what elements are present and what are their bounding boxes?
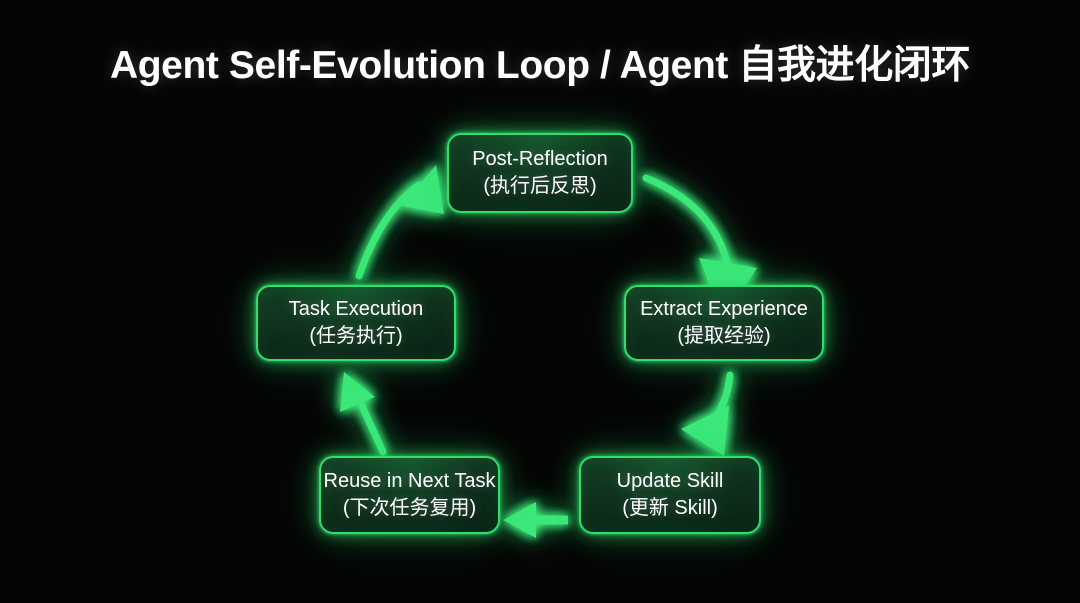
node-task-execution-label-en: Task Execution <box>289 296 424 323</box>
page-title: Agent Self-Evolution Loop / Agent 自我进化闭环 <box>0 40 1080 92</box>
node-extract-experience-label-en: Extract Experience <box>640 296 808 323</box>
diagram-canvas: Agent Self-Evolution Loop / Agent 自我进化闭环 <box>0 0 1080 603</box>
node-task-execution-label-zh: (任务执行) <box>309 323 402 350</box>
node-task-execution[interactable]: Task Execution (任务执行) <box>256 285 456 361</box>
node-extract-experience-label-zh: (提取经验) <box>677 323 770 350</box>
node-extract-experience[interactable]: Extract Experience (提取经验) <box>624 285 824 361</box>
arrow-extract-experience-to-update-skill <box>681 375 730 456</box>
arrow-task-execution-to-post-reflection <box>359 165 444 276</box>
node-update-skill[interactable]: Update Skill (更新 Skill) <box>579 456 761 534</box>
node-reuse-next-task[interactable]: Reuse in Next Task (下次任务复用) <box>319 456 500 534</box>
node-reuse-next-task-label-en: Reuse in Next Task <box>324 468 496 495</box>
node-post-reflection[interactable]: Post-Reflection (执行后反思) <box>447 133 633 213</box>
arrow-reuse-next-task-to-task-execution <box>340 372 383 452</box>
node-reuse-next-task-label-zh: (下次任务复用) <box>343 495 476 522</box>
node-update-skill-label-zh: (更新 Skill) <box>622 495 718 522</box>
node-post-reflection-label-en: Post-Reflection <box>472 146 608 173</box>
arrow-update-skill-to-reuse-next-task <box>503 502 568 538</box>
node-post-reflection-label-zh: (执行后反思) <box>483 173 596 200</box>
node-update-skill-label-en: Update Skill <box>617 468 724 495</box>
